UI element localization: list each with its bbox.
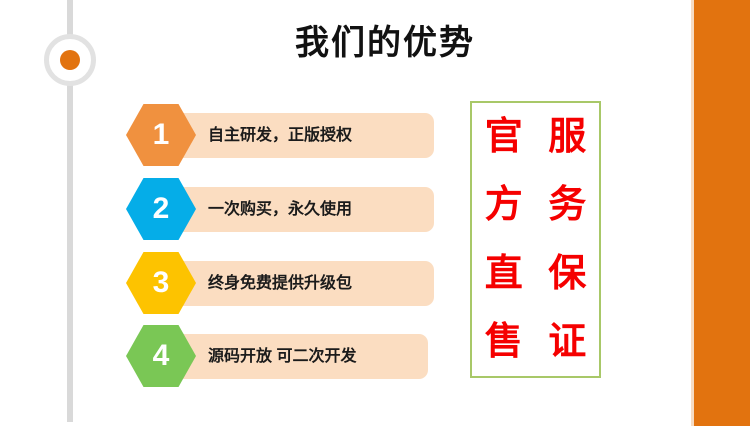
slogan-character-grid: 官 服 方 务 直 保 售 证 (472, 103, 599, 376)
slogan-char: 售 (485, 323, 523, 361)
slogan-char: 方 (485, 186, 523, 224)
slide-canvas: 我们的优势 1 自主研发，正版授权 2 一次购买，永久使用 3 终身免费提供升级… (0, 0, 750, 426)
slogan-char: 服 (548, 118, 586, 156)
timeline-node-dot-icon (60, 50, 80, 70)
advantage-text-1: 自主研发，正版授权 (208, 113, 352, 158)
advantage-text-3: 终身免费提供升级包 (208, 261, 352, 306)
advantage-row-4[interactable]: 4 源码开放 可二次开发 (126, 325, 396, 387)
advantage-text-4: 源码开放 可二次开发 (208, 334, 356, 379)
advantage-row-2[interactable]: 2 一次购买，永久使用 (126, 178, 396, 240)
slogan-char: 证 (548, 323, 586, 361)
slogan-box: 官 服 方 务 直 保 售 证 (470, 101, 601, 378)
advantage-text-2: 一次购买，永久使用 (208, 187, 352, 232)
advantage-number-4: 4 (126, 325, 196, 387)
advantage-row-1[interactable]: 1 自主研发，正版授权 (126, 104, 396, 166)
advantage-number-1: 1 (126, 104, 196, 166)
page-title: 我们的优势 (170, 21, 600, 65)
side-bar (694, 0, 750, 426)
slogan-char: 务 (548, 186, 586, 224)
slogan-char: 官 (485, 118, 523, 156)
timeline-node-marker (44, 34, 96, 86)
advantage-number-3: 3 (126, 252, 196, 314)
advantage-number-2: 2 (126, 178, 196, 240)
slogan-char: 直 (485, 255, 523, 293)
slogan-char: 保 (548, 255, 586, 293)
advantage-row-3[interactable]: 3 终身免费提供升级包 (126, 252, 396, 314)
